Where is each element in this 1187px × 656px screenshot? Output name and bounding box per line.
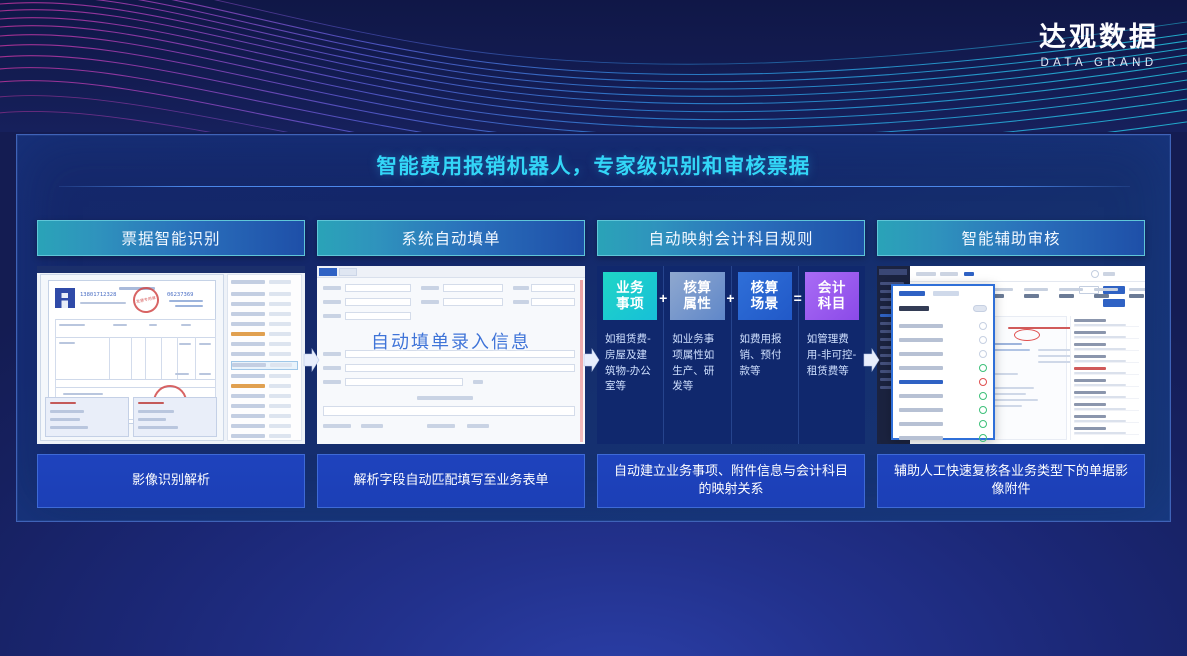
operator-equals: = xyxy=(791,290,805,306)
workflow-columns: 票据智能识别 13801712328 06237369 发票 xyxy=(37,220,1152,508)
popup-list-item[interactable] xyxy=(899,418,987,430)
checklist-row[interactable] xyxy=(1074,354,1139,363)
popup-section-title xyxy=(899,306,929,311)
field-row[interactable] xyxy=(231,311,298,318)
invoice-subtext-2 xyxy=(169,300,203,302)
mapping-cell-accounting-scenario: 核算 场景 = 如费用报销、预付款等 xyxy=(731,266,798,444)
step-3-diagram: 业务 事项 + 如租赁费-房屋及建筑物-办公室等 核算 属性 + xyxy=(597,266,865,444)
step-2-header: 系统自动填单 xyxy=(317,220,585,256)
checklist-row[interactable] xyxy=(1074,330,1139,339)
chip-line-2: 科目 xyxy=(818,296,846,312)
form-field[interactable] xyxy=(443,298,503,306)
checklist-row[interactable] xyxy=(1074,342,1139,351)
workflow-step-4: 智能辅助审核 xyxy=(877,220,1145,508)
breadcrumb-item-active[interactable] xyxy=(964,272,974,276)
chip-line-1: 会计 xyxy=(818,280,846,296)
step-2-screenshot: 自动填单录入信息 xyxy=(317,266,585,444)
workflow-step-1: 票据智能识别 13801712328 06237369 发票 xyxy=(37,220,305,508)
field-row[interactable] xyxy=(231,403,298,410)
chip-accounting-scenario[interactable]: 核算 场景 xyxy=(738,272,792,320)
mock2-tab-group xyxy=(319,268,357,276)
submit-button[interactable] xyxy=(1103,299,1125,307)
field-row[interactable] xyxy=(231,301,298,308)
step-3-header: 自动映射会计科目规则 xyxy=(597,220,865,256)
brand-name-cn: 达观数据 xyxy=(1039,22,1159,53)
chip-accounting-attribute[interactable]: 核算 属性 xyxy=(670,272,724,320)
step-1-screenshot: 13801712328 06237369 发票专用章 xyxy=(37,266,305,444)
main-content-card: 智能费用报销机器人，专家级识别和审核票据 票据智能识别 13801712328 … xyxy=(16,134,1171,522)
check-icon xyxy=(979,364,987,372)
invoice-subtext-3 xyxy=(175,305,203,307)
stat-item xyxy=(1094,288,1118,298)
operator-plus-2: + xyxy=(724,290,738,306)
popup-tab-audit[interactable] xyxy=(899,291,925,296)
mock1-extracted-fields-pane xyxy=(227,274,302,441)
form-field[interactable] xyxy=(345,312,411,320)
audit-review-mock xyxy=(877,266,1145,444)
header-decorative-band xyxy=(0,0,1187,132)
mock1-titlebar xyxy=(37,266,305,273)
chip-line-2: 场景 xyxy=(751,296,779,312)
mock2-tab[interactable] xyxy=(339,268,357,276)
checklist-row[interactable] xyxy=(1074,390,1139,399)
arrow-step-1-to-2 xyxy=(302,348,320,372)
title-divider xyxy=(59,186,1130,187)
popup-list-item[interactable] xyxy=(899,320,987,332)
mock4-topbar xyxy=(910,266,1145,282)
form-field[interactable] xyxy=(443,284,503,292)
stat-item xyxy=(1024,288,1048,298)
step-4-header: 智能辅助审核 xyxy=(877,220,1145,256)
popup-list-item[interactable] xyxy=(899,348,987,360)
step-2-caption: 解析字段自动匹配填写至业务表单 xyxy=(317,454,585,508)
brand-name-en: DATA GRAND xyxy=(1039,57,1159,69)
form-field[interactable] xyxy=(531,284,575,292)
step-1-caption: 影像识别解析 xyxy=(37,454,305,508)
popup-tab-materials[interactable] xyxy=(933,291,959,296)
avatar[interactable] xyxy=(1091,270,1099,278)
mapping-cell-business-item: 业务 事项 + 如租赁费-房屋及建筑物-办公室等 xyxy=(597,266,663,444)
invoice-thumbnail[interactable] xyxy=(45,397,129,437)
popup-list-item-selected[interactable] xyxy=(899,376,987,388)
form-field[interactable] xyxy=(531,298,575,306)
invoice-number-right: 06237369 xyxy=(167,292,194,298)
user-name-label xyxy=(1103,272,1115,276)
chip-line-1: 业务 xyxy=(616,280,644,296)
checklist-row[interactable] xyxy=(1074,318,1139,327)
field-row[interactable] xyxy=(231,423,298,430)
chip-line-2: 属性 xyxy=(683,296,711,312)
field-row[interactable] xyxy=(231,291,298,298)
chip-accounting-subject[interactable]: 会计 科目 xyxy=(805,272,859,320)
field-row-warning[interactable] xyxy=(231,331,298,338)
status-icon xyxy=(979,350,987,358)
check-icon xyxy=(979,420,987,428)
mock4-checklist-pane xyxy=(1070,316,1142,440)
invoice-thumbnail-strip xyxy=(45,397,217,437)
operator-plus-1: + xyxy=(656,290,670,306)
status-icon xyxy=(979,336,987,344)
popup-tab-group xyxy=(899,291,959,296)
mock4-material-popup[interactable] xyxy=(891,284,995,440)
step-2-overlay-text: 自动填单录入信息 xyxy=(317,328,585,354)
checklist-row[interactable] xyxy=(1074,378,1139,387)
form-field[interactable] xyxy=(345,378,463,386)
checklist-row[interactable] xyxy=(1074,426,1139,435)
popup-list-item[interactable] xyxy=(899,390,987,402)
popup-toggle-switch[interactable] xyxy=(973,305,987,312)
field-row-warning[interactable] xyxy=(231,383,298,390)
mock4-summary-stats xyxy=(989,288,1145,298)
check-icon xyxy=(979,434,987,442)
invoice-number-left: 13801712328 xyxy=(80,292,116,298)
field-row[interactable] xyxy=(231,321,298,328)
mapping-desc-accounting-attribute: 如业务事项属性如生产、研发等 xyxy=(672,332,724,395)
chip-line-1: 核算 xyxy=(751,280,779,296)
arrow-step-3-to-4 xyxy=(862,348,880,372)
mock2-toolbar xyxy=(317,266,585,278)
mapping-desc-business-item: 如租赁费-房屋及建筑物-办公室等 xyxy=(605,332,657,395)
workflow-step-2: 系统自动填单 xyxy=(317,220,585,508)
check-icon xyxy=(979,392,987,400)
mock1-viewer-pane: 13801712328 06237369 发票专用章 xyxy=(40,274,224,441)
field-row[interactable] xyxy=(231,433,298,440)
form-field[interactable] xyxy=(345,284,411,292)
step-4-screenshot xyxy=(877,266,1145,444)
checklist-row[interactable] xyxy=(1074,414,1139,423)
qr-code-icon xyxy=(55,288,75,308)
annotation-circle xyxy=(1014,329,1040,341)
field-row[interactable] xyxy=(231,279,298,286)
invoice-subtext-1 xyxy=(80,302,126,304)
stat-item xyxy=(1129,288,1145,298)
form-field[interactable] xyxy=(345,364,575,372)
chip-business-item[interactable]: 业务 事项 xyxy=(603,272,657,320)
field-row[interactable] xyxy=(231,413,298,420)
accounting-mapping-diagram: 业务 事项 + 如租赁费-房屋及建筑物-办公室等 核算 属性 + xyxy=(597,266,865,444)
field-row[interactable] xyxy=(231,393,298,400)
field-row[interactable] xyxy=(231,341,298,348)
chip-line-1: 核算 xyxy=(683,280,711,296)
step-4-caption: 辅助人工快速复核各业务类型下的单据影像附件 xyxy=(877,454,1145,508)
check-icon xyxy=(979,406,987,414)
breadcrumb-item[interactable] xyxy=(916,272,936,276)
popup-list-item[interactable] xyxy=(899,334,987,346)
form-field[interactable] xyxy=(345,298,411,306)
mock4-app-logo xyxy=(879,269,907,275)
checklist-row[interactable] xyxy=(1074,402,1139,411)
form-field[interactable] xyxy=(323,406,575,416)
step-3-caption: 自动建立业务事项、附件信息与会计科目的映射关系 xyxy=(597,454,865,508)
popup-list-item[interactable] xyxy=(899,432,987,444)
popup-list-item[interactable] xyxy=(899,404,987,416)
breadcrumb-item[interactable] xyxy=(940,272,958,276)
mapping-grid: 业务 事项 + 如租赁费-房屋及建筑物-办公室等 核算 属性 + xyxy=(597,266,865,444)
popup-list-item[interactable] xyxy=(899,362,987,374)
mapping-desc-accounting-scenario: 如费用报销、预付款等 xyxy=(740,332,792,379)
arrow-step-2-to-3 xyxy=(582,348,600,372)
invoice-thumbnail[interactable] xyxy=(133,397,217,437)
invoice-ocr-mock: 13801712328 06237369 发票专用章 xyxy=(37,266,305,444)
mapping-cell-accounting-subject: 会计 科目 如管理费用-非可控-租赁费等 xyxy=(798,266,865,444)
checklist-row[interactable] xyxy=(1074,366,1139,375)
stat-item xyxy=(1059,288,1083,298)
error-icon xyxy=(979,378,987,386)
field-row[interactable] xyxy=(231,373,298,380)
step-1-header: 票据智能识别 xyxy=(37,220,305,256)
mapping-cell-accounting-attribute: 核算 属性 + 如业务事项属性如生产、研发等 xyxy=(663,266,730,444)
status-icon xyxy=(979,322,987,330)
mapping-desc-accounting-subject: 如管理费用-非可控-租赁费等 xyxy=(807,332,859,379)
brand-logo: 达观数据 DATA GRAND xyxy=(1039,22,1159,69)
mock2-tab[interactable] xyxy=(319,268,337,276)
field-row[interactable] xyxy=(231,351,298,358)
workflow-step-3: 自动映射会计科目规则 业务 事项 + 如租赁费-房屋及建筑物-办公室等 xyxy=(597,220,865,508)
field-row-selected[interactable] xyxy=(231,361,298,370)
wave-lines-graphic xyxy=(0,0,1187,132)
chip-line-2: 事项 xyxy=(616,296,644,312)
auto-fill-form-mock: 自动填单录入信息 xyxy=(317,266,585,444)
page-title: 智能费用报销机器人，专家级识别和审核票据 xyxy=(17,149,1170,179)
